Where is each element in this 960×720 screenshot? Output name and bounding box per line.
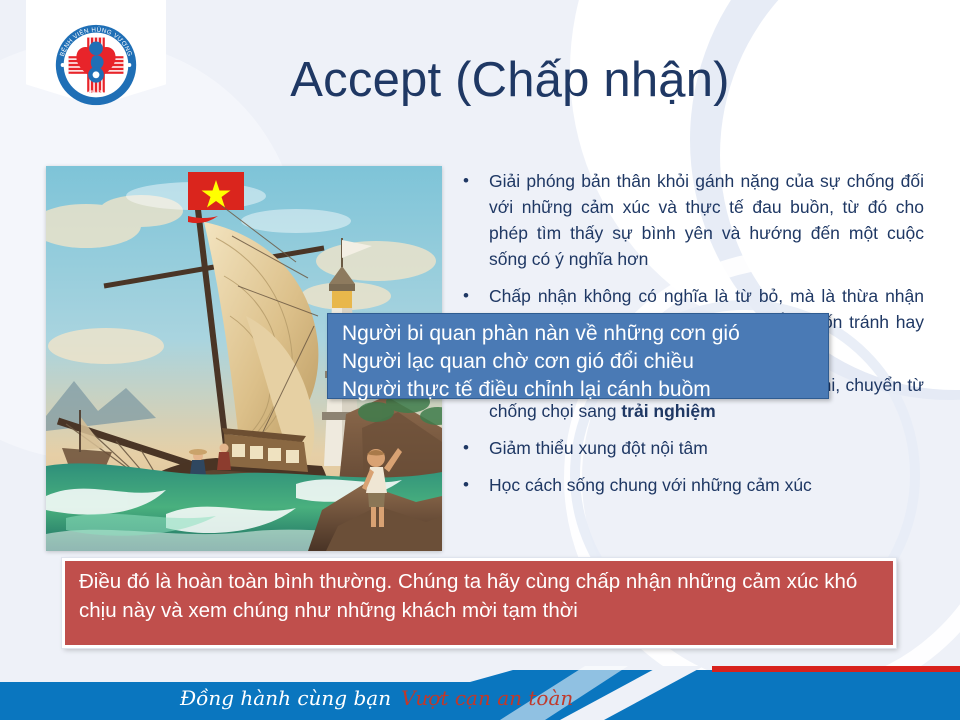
blue-callout-box: Người bi quan phàn nàn về những cơn gió … xyxy=(327,313,829,399)
hospital-logo-icon: BỆNH VIỆN HÙNG VƯƠNG THÀNH PHỐ HỒ CHÍ MI… xyxy=(47,16,145,114)
bullet-marker: • xyxy=(458,472,489,498)
bullet-text: Giải phóng bản thân khỏi gánh nặng của s… xyxy=(489,168,924,272)
red-callout-box: Điều đó là hoàn toàn bình thường. Chúng … xyxy=(62,558,896,648)
bullet-marker: • xyxy=(458,435,489,461)
bullet-text: Học cách sống chung với những cảm xúc xyxy=(489,472,924,498)
bullet-text-emphasis: trải nghiệm xyxy=(621,401,715,421)
blue-callout-line: Người thực tế điều chỉnh lại cánh buồm xyxy=(342,376,828,404)
footer-slogan: Đồng hành cùng bạnVượt cạn an toàn xyxy=(180,686,573,710)
footer-banner: Đồng hành cùng bạnVượt cạn an toàn xyxy=(0,662,960,720)
slide-canvas: BỆNH VIỆN HÙNG VƯƠNG THÀNH PHỐ HỒ CHÍ MI… xyxy=(0,0,960,720)
footer-slogan-white: Đồng hành cùng bạn xyxy=(180,686,391,710)
blue-callout-line: Người bi quan phàn nàn về những cơn gió xyxy=(342,320,828,348)
bullet-text: Giảm thiểu xung đột nội tâm xyxy=(489,435,924,461)
list-item: • Giải phóng bản thân khỏi gánh nặng của… xyxy=(458,168,924,272)
footer-slogan-red: Vượt cạn an toàn xyxy=(401,686,573,710)
page-title: Accept (Chấp nhận) xyxy=(160,54,860,107)
list-item: • Học cách sống chung với những cảm xúc xyxy=(458,472,924,498)
bullet-marker: • xyxy=(458,168,489,272)
list-item: • Giảm thiểu xung đột nội tâm xyxy=(458,435,924,461)
blue-callout-line: Người lạc quan chờ cơn gió đổi chiều xyxy=(342,348,828,376)
